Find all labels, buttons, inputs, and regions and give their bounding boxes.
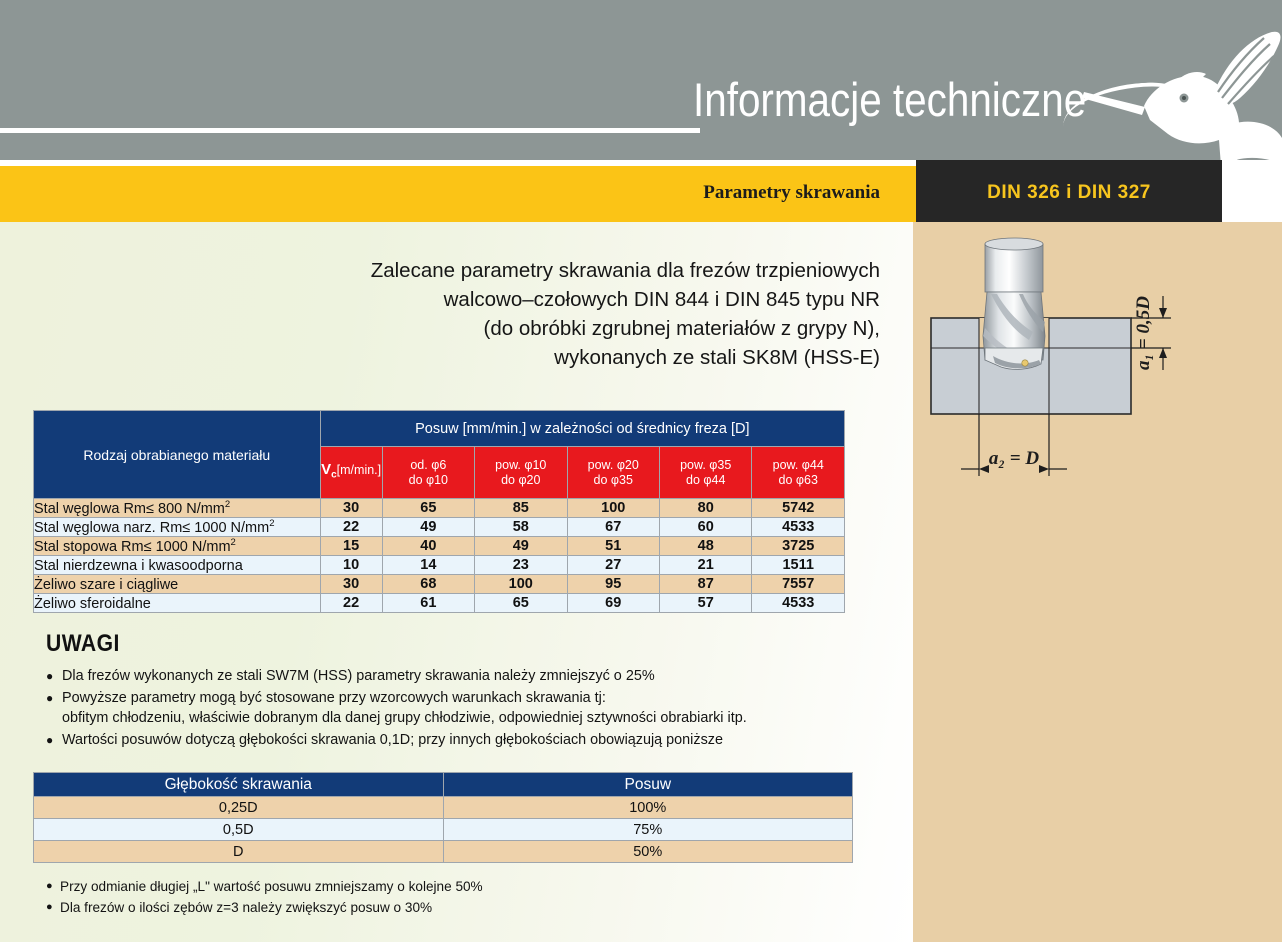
standard-badge-label: DIN 326 i DIN 327 [916,182,1222,204]
table-row: 0,5D 75% [34,819,853,841]
column-header-vc: Vc[m/min.] [320,447,382,499]
cell-feed-5: 3725 [752,537,845,556]
note-text: Wartości posuwów dotyczą głębokości skra… [62,732,723,748]
intro-line-1: Zalecane parametry skrawania dla frezów … [240,256,880,285]
cell-feed-2: 65 [475,594,567,613]
cell-feed-2: 49 [475,537,567,556]
cell-feed-4: 21 [659,556,751,575]
dimension-label-a2: a₂ = D [989,448,1039,469]
depth-column-header: Głębokość skrawania [34,773,444,797]
note-item: ● Wartości posuwów dotyczą głębokości sk… [46,730,876,751]
cell-feed-4: 57 [659,594,751,613]
column-header-d20-d35: pow. φ20 do φ35 [567,447,659,499]
table-header-row-1: Rodzaj obrabianego materiału Posuw [mm/m… [34,411,845,447]
arrow-left [979,465,989,473]
cell-vc: 22 [320,518,382,537]
notes-list: ● Dla frezów wykonanych ze stali SW7M (H… [46,666,876,751]
cell-vc: 15 [320,537,382,556]
section-banner: Parametry skrawania [0,166,916,222]
depth-table-header-row: Głębokość skrawania Posuw [34,773,853,797]
note-text: Dla frezów o ilości zębów z=3 należy zwi… [60,900,432,915]
col-sub: do φ35 [594,473,633,487]
cell-feed-2: 85 [475,499,567,518]
cell-feed-2: 100 [475,575,567,594]
table-row: D 50% [34,841,853,863]
cell-material: Żeliwo sferoidalne [34,594,321,613]
table-row: Żeliwo szare i ciągliwe 30 68 100 95 87 … [34,575,845,594]
header-rule [0,128,700,133]
column-header-d10-d20: pow. φ10 do φ20 [475,447,567,499]
cell-feed-3: 27 [567,556,659,575]
column-header-d35-d44: pow. φ35 do φ44 [659,447,751,499]
table-row: Stal węglowa Rm≤ 800 N/mm2 30 65 85 100 … [34,499,845,518]
section-banner-label: Parametry skrawania [703,182,880,204]
cell-material: Stal nierdzewna i kwasoodporna [34,556,321,575]
intro-line-3: (do obróbki zgrubnej materiałów z grypy … [240,314,880,343]
col-main: pow. φ35 [680,458,731,472]
note-text-continuation: obfitym chłodzeniu, właściwie dobranym d… [62,708,876,729]
intro-line-2: walcowo–czołowych DIN 844 i DIN 845 typu… [240,285,880,314]
cell-feed-4: 80 [659,499,751,518]
material-text: Stal węglowa Rm≤ 800 N/mm [34,501,225,517]
note-item: ● Dla frezów wykonanych ze stali SW7M (H… [46,666,876,687]
cell-feed-3: 51 [567,537,659,556]
column-header-d44-d63: pow. φ44 do φ63 [752,447,845,499]
cutting-parameters-table: Rodzaj obrabianego materiału Posuw [mm/m… [33,410,845,613]
bullet-icon: ● [46,730,53,751]
cell-depth: D [34,841,444,863]
cell-feed-4: 60 [659,518,751,537]
end-mill-cutter [983,238,1045,369]
cell-vc: 30 [320,499,382,518]
cell-material: Żeliwo szare i ciągliwe [34,575,321,594]
cell-feed-5: 5742 [752,499,845,518]
col-main: pow. φ10 [495,458,546,472]
table-row: Stal nierdzewna i kwasoodporna 10 14 23 … [34,556,845,575]
material-sup: 2 [231,537,236,548]
cell-feed-1: 68 [382,575,474,594]
note-item: ● Dla frezów o ilości zębów z=3 należy z… [46,897,876,918]
cell-material: Stal stopowa Rm≤ 1000 N/mm2 [34,537,321,556]
note-item: ● Powyższe parametry mogą być stosowane … [46,688,876,729]
table-row: 0,25D 100% [34,797,853,819]
cell-feed: 75% [443,819,853,841]
intro-line-4: wykonanych ze stali SK8M (HSS-E) [240,343,880,372]
cell-vc: 22 [320,594,382,613]
cell-feed-2: 58 [475,518,567,537]
material-sup: 2 [269,518,274,529]
arrow-down [1159,348,1167,358]
depth-feed-table: Głębokość skrawania Posuw 0,25D 100% 0,5… [33,772,853,863]
table-row: Żeliwo sferoidalne 22 61 65 69 57 4533 [34,594,845,613]
cell-feed-4: 87 [659,575,751,594]
cell-feed-5: 4533 [752,518,845,537]
col-main: pow. φ44 [773,458,824,472]
end-mill-cutting-diagram: a₁ = 0,5D a₂ = D [921,236,1231,526]
note-text: Przy odmianie długiej „L" wartość posuwu… [60,879,483,894]
cell-feed-4: 48 [659,537,751,556]
cell-feed-3: 95 [567,575,659,594]
notes-heading: UWAGI [46,630,120,658]
cell-feed-1: 49 [382,518,474,537]
cell-material: Stal węglowa Rm≤ 800 N/mm2 [34,499,321,518]
dimension-label-a1: a₁ = 0,5D [1133,296,1154,370]
cell-vc: 30 [320,575,382,594]
col-sub: do φ10 [409,473,448,487]
page-title: Informacje techniczne [693,72,1086,127]
bottom-notes-list: ● Przy odmianie długiej „L" wartość posu… [46,876,876,918]
column-header-group-feed: Posuw [mm/min.] w zależności od średnicy… [320,411,844,447]
material-text: Żeliwo szare i ciągliwe [34,577,178,593]
cell-material: Stal węglowa narz. Rm≤ 1000 N/mm2 [34,518,321,537]
col-main: pow. φ20 [588,458,639,472]
table-row: Stal węglowa narz. Rm≤ 1000 N/mm2 22 49 … [34,518,845,537]
cell-feed-1: 65 [382,499,474,518]
column-header-material: Rodzaj obrabianego materiału [34,411,321,499]
col-main: od. φ6 [410,458,446,472]
cell-feed-2: 23 [475,556,567,575]
cell-feed-1: 40 [382,537,474,556]
material-text: Stal nierdzewna i kwasoodporna [34,558,243,574]
bullet-icon: ● [46,876,53,897]
cell-feed-3: 67 [567,518,659,537]
cell-feed-5: 4533 [752,594,845,613]
bullet-icon: ● [46,897,53,918]
note-text: Powyższe parametry mogą być stosowane pr… [62,690,606,706]
bullet-icon: ● [46,666,53,687]
cell-feed-3: 100 [567,499,659,518]
col-sub: do φ44 [686,473,725,487]
intro-heading: Zalecane parametry skrawania dla frezów … [240,256,880,372]
arrow-up [1159,308,1167,318]
standard-badge: DIN 326 i DIN 327 [916,160,1222,222]
note-text: Dla frezów wykonanych ze stali SW7M (HSS… [62,668,655,684]
cell-depth: 0,25D [34,797,444,819]
column-header-d6-d10: od. φ6 do φ10 [382,447,474,499]
arrow-right [1039,465,1049,473]
cell-feed: 50% [443,841,853,863]
cell-feed: 100% [443,797,853,819]
col-sub: do φ63 [779,473,818,487]
material-text: Stal stopowa Rm≤ 1000 N/mm [34,539,231,555]
cell-vc: 10 [320,556,382,575]
cell-feed-5: 7557 [752,575,845,594]
material-text: Stal węglowa narz. Rm≤ 1000 N/mm [34,520,269,536]
material-sup: 2 [225,499,230,510]
cell-feed-5: 1511 [752,556,845,575]
cell-feed-1: 14 [382,556,474,575]
cell-feed-3: 69 [567,594,659,613]
cell-feed-1: 61 [382,594,474,613]
bullet-icon: ● [46,688,53,709]
material-text: Żeliwo sferoidalne [34,596,151,612]
table-row: Stal stopowa Rm≤ 1000 N/mm2 15 40 49 51 … [34,537,845,556]
cell-depth: 0,5D [34,819,444,841]
page-header-band: Informacje techniczne [0,0,1282,160]
col-sub: do φ20 [501,473,540,487]
feed-column-header: Posuw [443,773,853,797]
note-item: ● Przy odmianie długiej „L" wartość posu… [46,876,876,897]
